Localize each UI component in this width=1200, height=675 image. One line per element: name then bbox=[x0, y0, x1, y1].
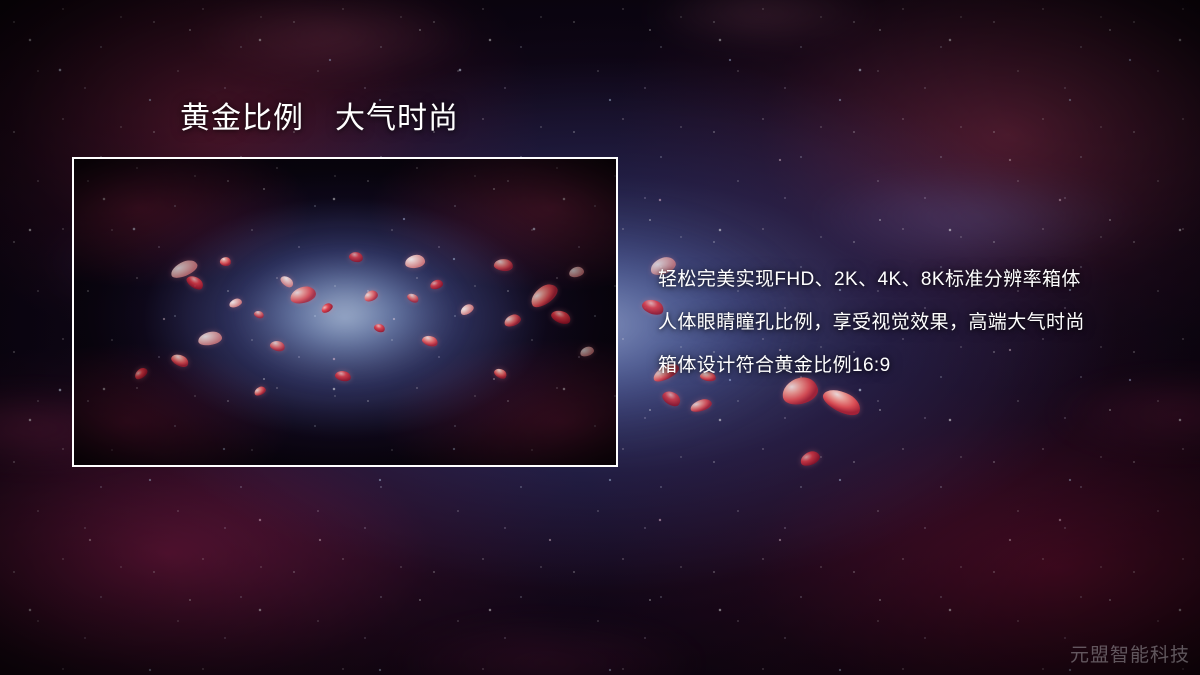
photo-frame-image bbox=[74, 159, 616, 465]
watermark: 元盟智能科技 bbox=[1070, 640, 1190, 667]
page-title: 黄金比例 大气时尚 bbox=[180, 101, 459, 137]
body-line-1: 轻松完美实现FHD、2K、4K、8K标准分辨率箱体 bbox=[658, 258, 1178, 301]
body-text-block: 轻松完美实现FHD、2K、4K、8K标准分辨率箱体 人体眼睛瞳孔比例，享受视觉效… bbox=[658, 258, 1178, 387]
frame-vignette bbox=[74, 159, 616, 465]
slide-canvas: 黄金比例 大气时尚 轻松完美实现FHD、2K、4K、8K标准分辨率箱体 人体眼睛… bbox=[0, 0, 1200, 675]
body-line-2: 人体眼睛瞳孔比例，享受视觉效果，高端大气时尚 bbox=[658, 301, 1178, 344]
body-line-3: 箱体设计符合黄金比例16:9 bbox=[658, 344, 1178, 387]
photo-frame bbox=[72, 157, 618, 467]
